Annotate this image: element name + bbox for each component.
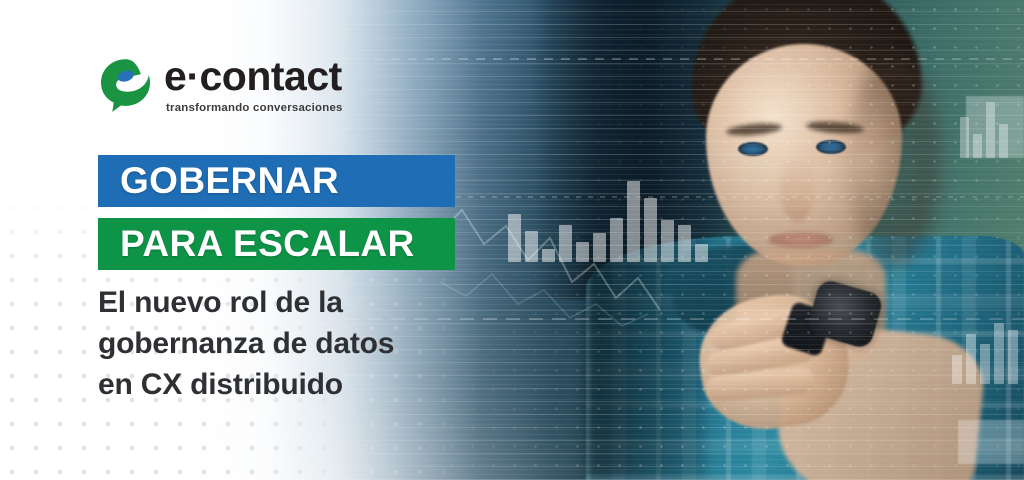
- brand-word-contact: contact: [199, 53, 341, 99]
- brand-word-separator: ·: [186, 53, 199, 99]
- brand-tagline: transformando conversaciones: [166, 102, 343, 114]
- headline-line-2: PARA ESCALAR: [120, 223, 415, 265]
- brand-logo[interactable]: e·contact transformando conversaciones: [99, 56, 343, 114]
- brand-word-e: e: [164, 53, 186, 99]
- brand-logo-text: e·contact transformando conversaciones: [164, 56, 343, 114]
- headline-line-1: GOBERNAR: [120, 160, 339, 202]
- econtact-swoosh-logo-icon: [99, 57, 151, 113]
- subtitle-line-1: El nuevo rol de la: [98, 283, 518, 324]
- hero-content: e·contact transformando conversaciones G…: [0, 0, 1024, 480]
- subtitle-line-2: gobernanza de datos: [98, 324, 518, 365]
- brand-wordmark: e·contact: [164, 56, 343, 97]
- headline-banner-primary: GOBERNAR: [98, 155, 455, 207]
- hero-banner: e·contact transformando conversaciones G…: [0, 0, 1024, 480]
- subtitle-line-3: en CX distribuido: [98, 365, 518, 406]
- subtitle: El nuevo rol de la gobernanza de datos e…: [98, 283, 518, 405]
- headline-banner-secondary: PARA ESCALAR: [98, 218, 455, 270]
